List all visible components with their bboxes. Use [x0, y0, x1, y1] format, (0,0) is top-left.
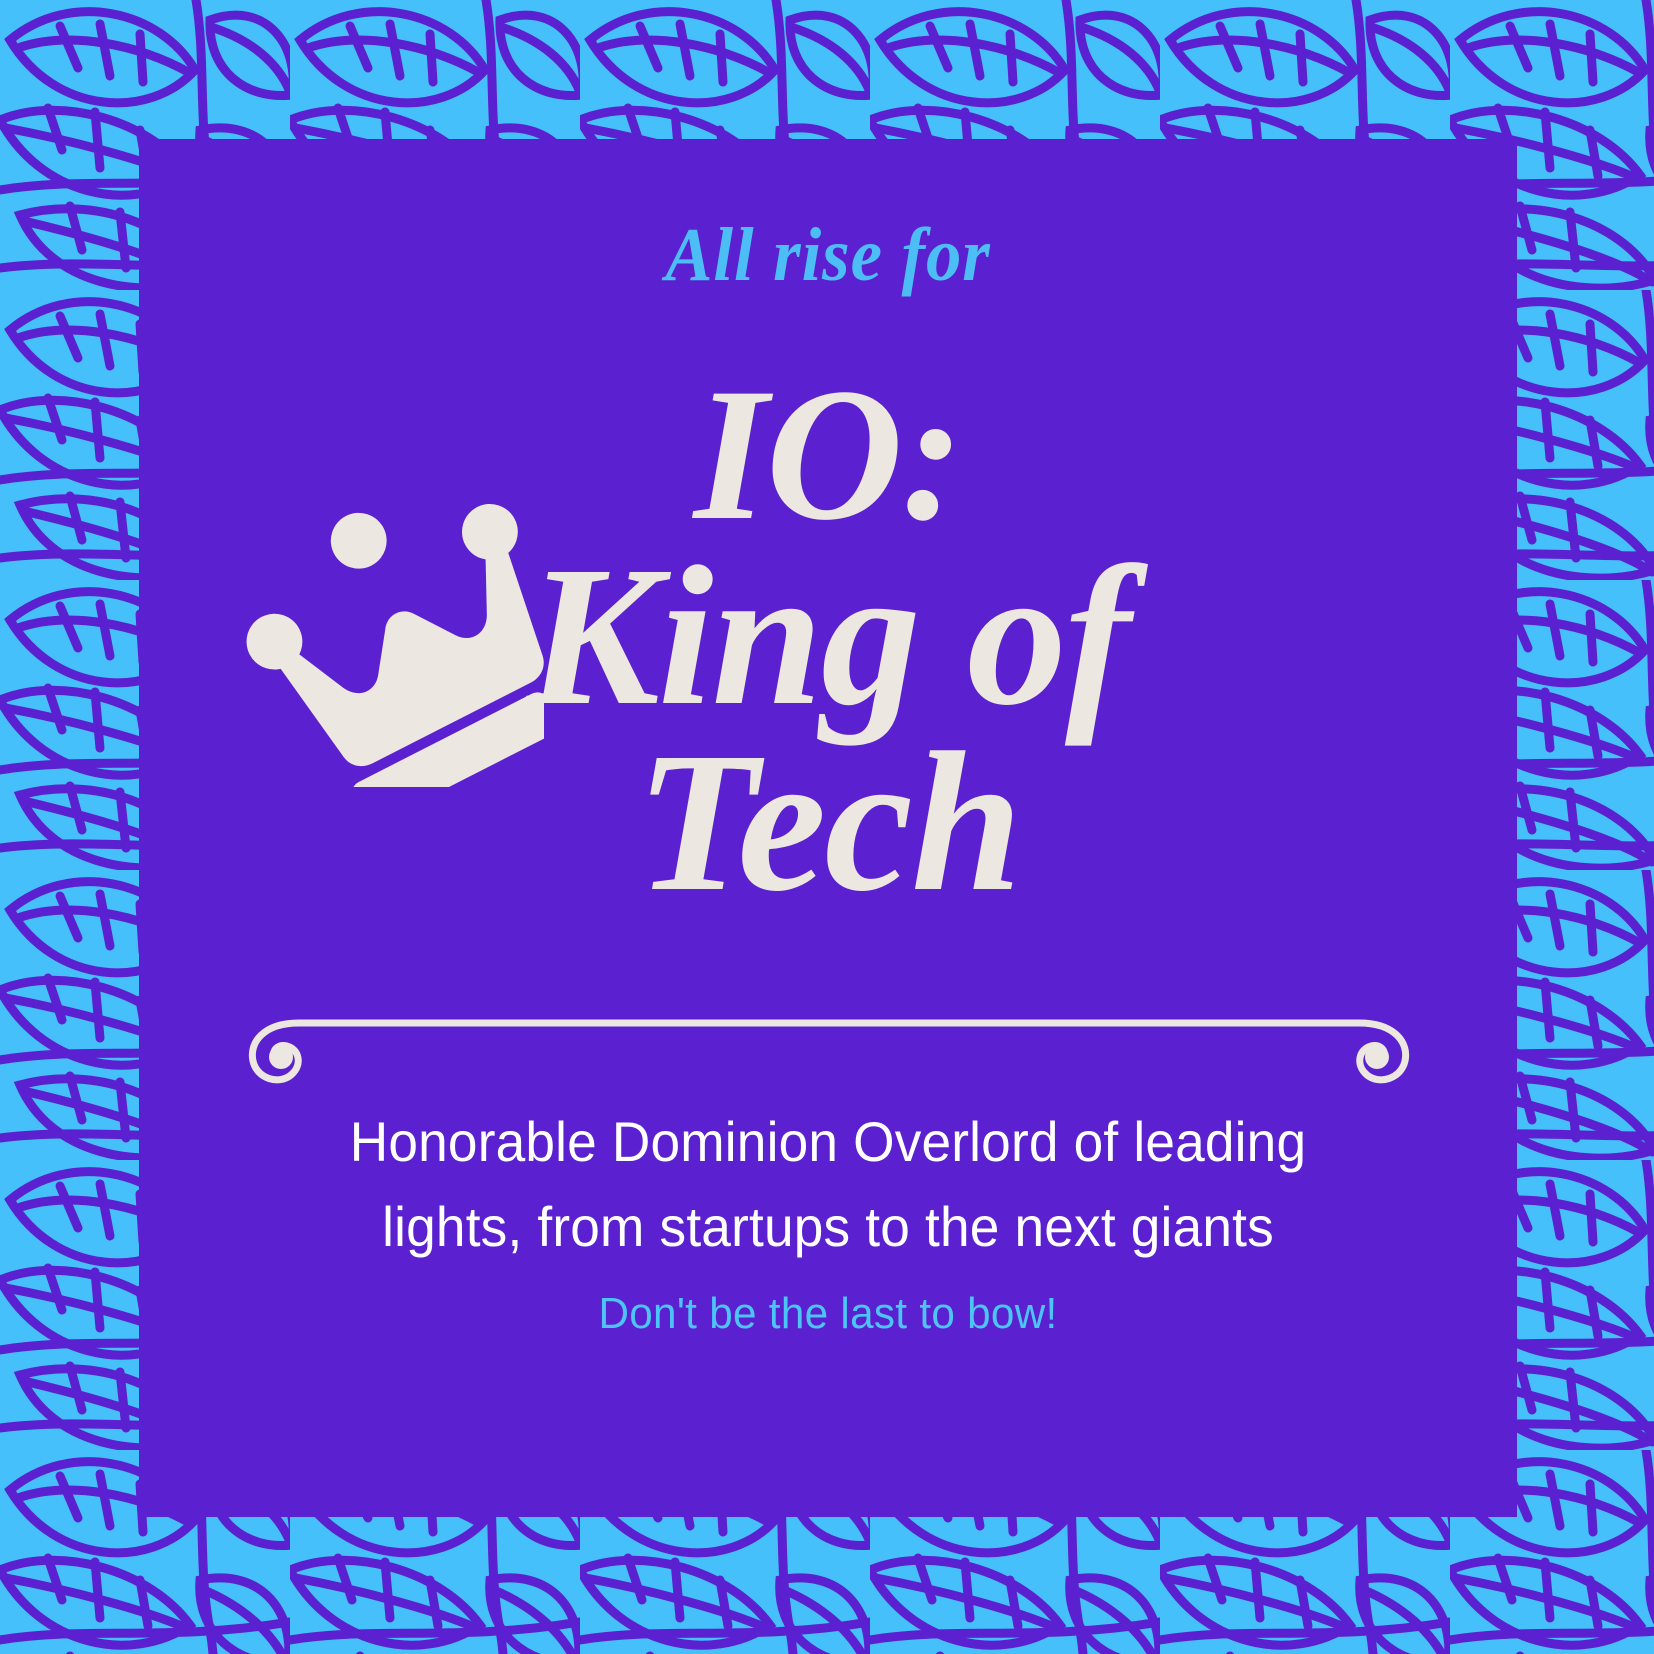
headline-line-2: King of: [139, 544, 1517, 730]
headline-line-1: IO:: [139, 367, 1517, 544]
content-panel: All rise for IO: King of: [139, 139, 1517, 1517]
headline-text: IO: King of Tech: [139, 367, 1517, 916]
kicker-text: Don't be the last to bow!: [167, 1289, 1490, 1339]
poster-canvas: All rise for IO: King of: [0, 0, 1654, 1654]
body-line-1: Honorable Dominion Overlord of leading: [259, 1099, 1397, 1184]
body-copy: Honorable Dominion Overlord of leading l…: [259, 1099, 1397, 1269]
flourish-divider-icon: [239, 1009, 1419, 1089]
headline-block: IO: King of Tech: [139, 367, 1517, 1067]
headline-line-3: Tech: [139, 730, 1517, 916]
eyebrow-text: All rise for: [187, 217, 1469, 293]
body-line-2: lights, from startups to the next giants: [259, 1184, 1397, 1269]
